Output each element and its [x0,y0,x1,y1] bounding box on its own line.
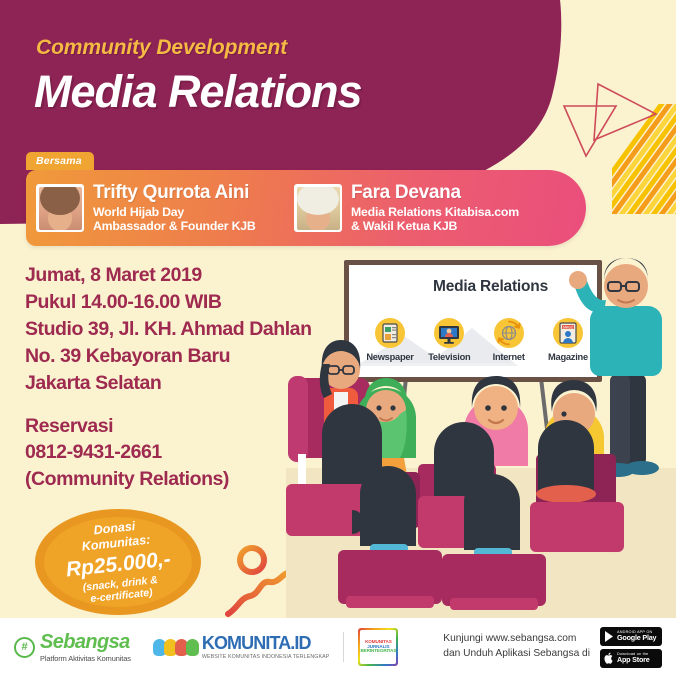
google-play-icon [604,631,614,642]
speaker-avatar-trifty [36,184,84,232]
jurnalis-berintegritas-badge: KOMUNITAS JURNALIS BERINTEGRITAS [358,628,398,666]
event-date: Jumat, 8 Maret 2019 [25,262,355,289]
komunita-name: KOMUNITA.ID [202,634,330,652]
event-time: Pukul 14.00-16.00 WIB [25,289,355,316]
board-item-internet: Internet [482,318,536,380]
event-details: Jumat, 8 Maret 2019 Pukul 14.00-16.00 WI… [25,262,355,493]
board-label-magazine: Magazine [541,352,595,362]
board-title: Media Relations [398,278,583,296]
poster-canvas: Community Development Media Relations Be… [0,0,676,676]
speaker-1-name: Trifty Qurrota Aini [93,182,256,204]
speaker-2-name: Fara Devana [351,182,519,204]
komunita-tagline: WEBSITE KOMUNITAS INDONESIA TERLENGKAP [202,654,330,660]
app-store-big: App Store [617,656,650,664]
speaker-2-role-line1: Media Relations Kitabisa.com [351,205,519,219]
google-play-badge[interactable]: ANDROID APP ON Google Play [600,627,662,646]
event-venue-line2: No. 39 Kebayoran Baru [25,343,355,370]
reservation-contact: (Community Relations) [25,466,355,493]
google-play-big: Google Play [617,634,656,642]
apple-icon [604,652,614,664]
speaker-2-role-line2: & Wakil Ketua KJB [351,219,519,233]
speaker-2: Fara Devana Media Relations Kitabisa.com… [294,182,519,233]
board-item-newspaper: Newspaper [363,318,417,380]
speaker-1-role-line2: Ambassador & Founder KJB [93,219,256,233]
footer-cta-text: Kunjungi www.sebangsa.com dan Unduh Apli… [443,632,590,662]
board-label-internet: Internet [482,352,536,362]
footer-cta: Kunjungi www.sebangsa.com dan Unduh Apli… [443,627,662,668]
bersama-tag: Bersama [26,152,94,170]
board-label-television: Television [422,352,476,362]
reservation-label: Reservasi [25,413,355,440]
poster-kicker: Community Development [36,36,287,60]
sebangsa-tagline: Platform Aktivitas Komunitas [40,654,131,663]
poster-title: Media Relations [34,66,362,118]
speakers-bar: Trifty Qurrota Aini World Hijab Day Amba… [26,170,586,246]
magazine-icon: MAGZ [553,318,583,348]
komunita-logo[interactable]: KOMUNITA.ID WEBSITE KOMUNITAS INDONESIA … [153,634,330,660]
donation-badge: Donasi Komunitas: Rp25.000,- (snack, dri… [34,508,202,616]
sebangsa-mark-icon [14,637,35,658]
board-item-television: Television [422,318,476,380]
speaker-avatar-fara [294,184,342,232]
footer-cta-line2: dan Unduh Aplikasi Sebangsa di [443,647,590,662]
sebangsa-logo[interactable]: Sebangsa Platform Aktivitas Komunitas [14,632,131,663]
komunita-people-icon [153,639,197,656]
reservation-phone: 0812-9431-2661 [25,439,355,466]
footer-bar: Sebangsa Platform Aktivitas Komunitas KO… [0,618,676,676]
board-icon-row: Newspaper Television [363,318,595,380]
app-store-badge[interactable]: Download on the App Store [600,649,662,668]
internet-icon [494,318,524,348]
store-badges: ANDROID APP ON Google Play Download on t… [600,627,662,668]
sebangsa-name: Sebangsa [40,632,131,652]
television-icon [434,318,464,348]
speaker-1-role-line1: World Hijab Day [93,205,256,219]
footer-divider [343,632,344,662]
footer-cta-line1: Kunjungi www.sebangsa.com [443,632,590,647]
speaker-1: Trifty Qurrota Aini World Hijab Day Amba… [36,182,294,233]
event-city: Jakarta Selatan [25,370,355,397]
board-label-newspaper: Newspaper [363,352,417,362]
board-item-magazine: MAGZ Magazine [541,318,595,380]
event-venue-line1: Studio 39, Jl. KH. Ahmad Dahlan [25,316,355,343]
reservation-block: Reservasi 0812-9431-2661 (Community Rela… [25,413,355,494]
svg-text:MAGZ: MAGZ [563,325,573,329]
newspaper-icon [375,318,405,348]
jb-line3: BERINTEGRITAS [360,649,396,654]
